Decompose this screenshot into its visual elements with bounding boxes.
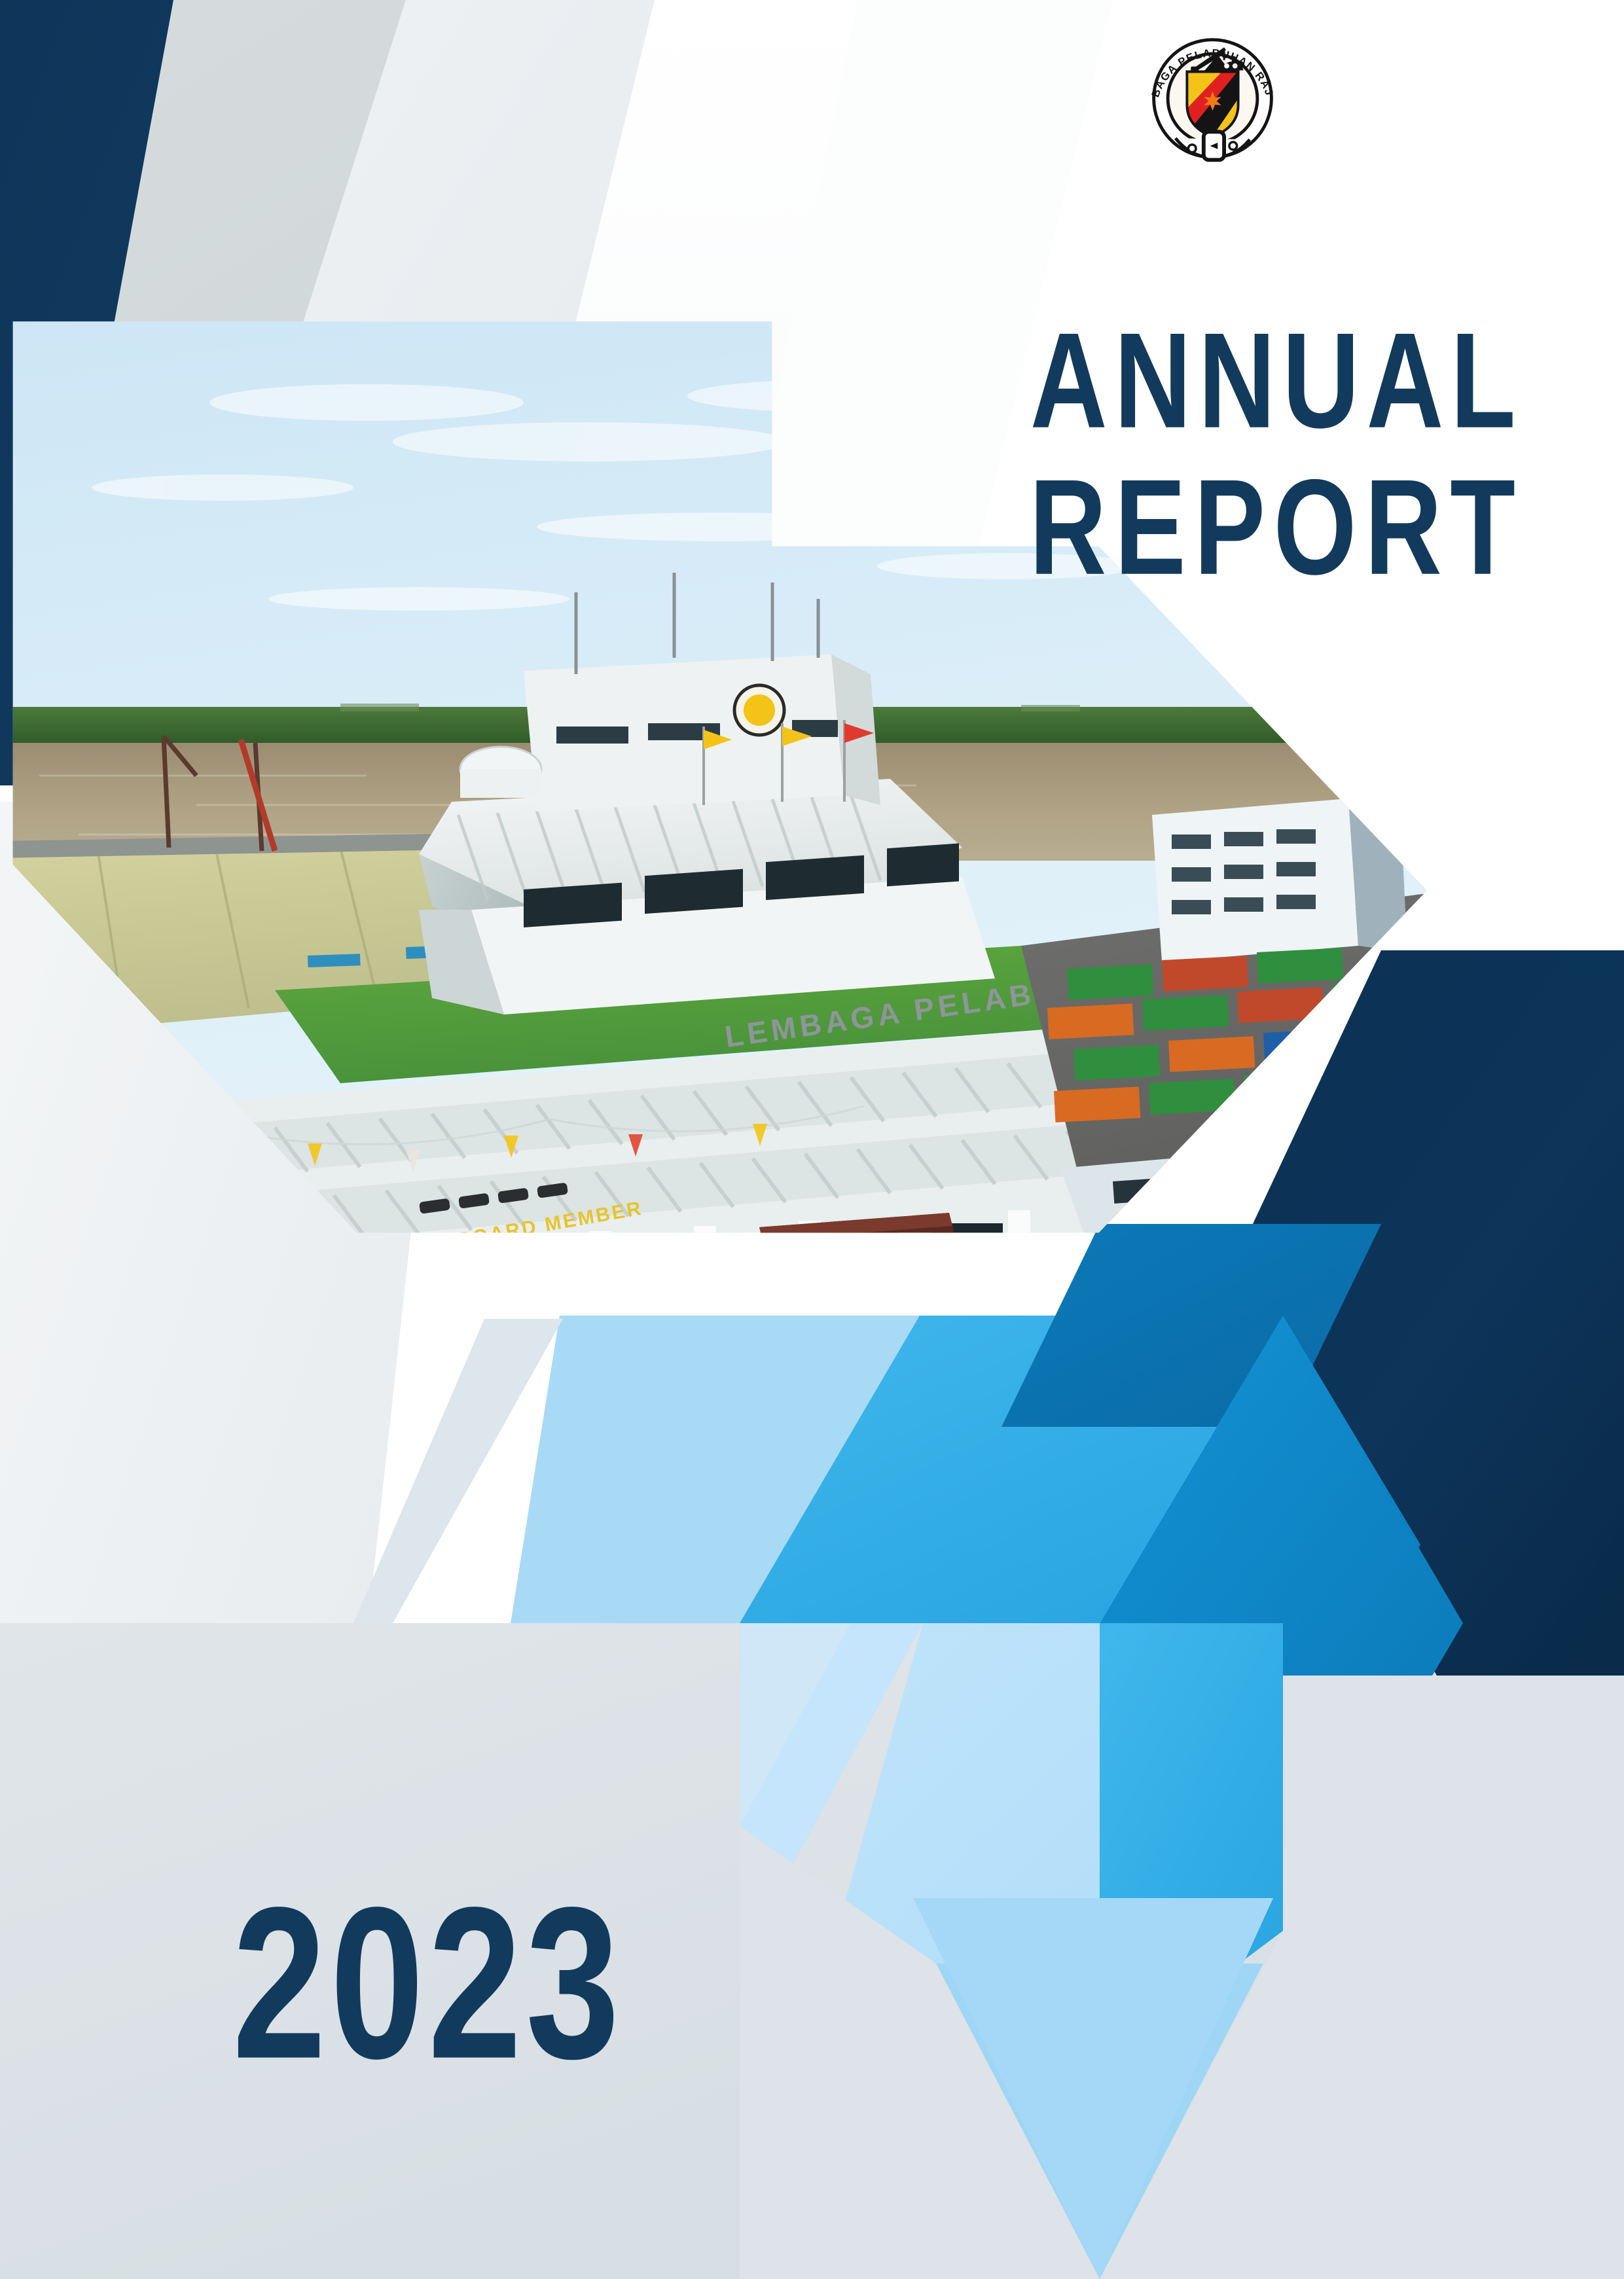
report-year: 2023: [232, 1859, 624, 2107]
page-title: ANNUAL REPORT: [995, 308, 1558, 601]
port-office-windows: [1172, 829, 1316, 914]
title-line-report: REPORT: [1006, 439, 1547, 618]
penthouse-emblem-inner: [744, 694, 775, 726]
lembaga-pelabuhan-rajang-logo: LEMBAGA PELABUHAN RAJANG: [1142, 29, 1283, 170]
logo-artwork: LEMBAGA PELABUHAN RAJANG: [1142, 29, 1283, 170]
annual-report-cover-page: LEMBAGA PELABUHAN RAJANG: [0, 0, 1624, 2279]
